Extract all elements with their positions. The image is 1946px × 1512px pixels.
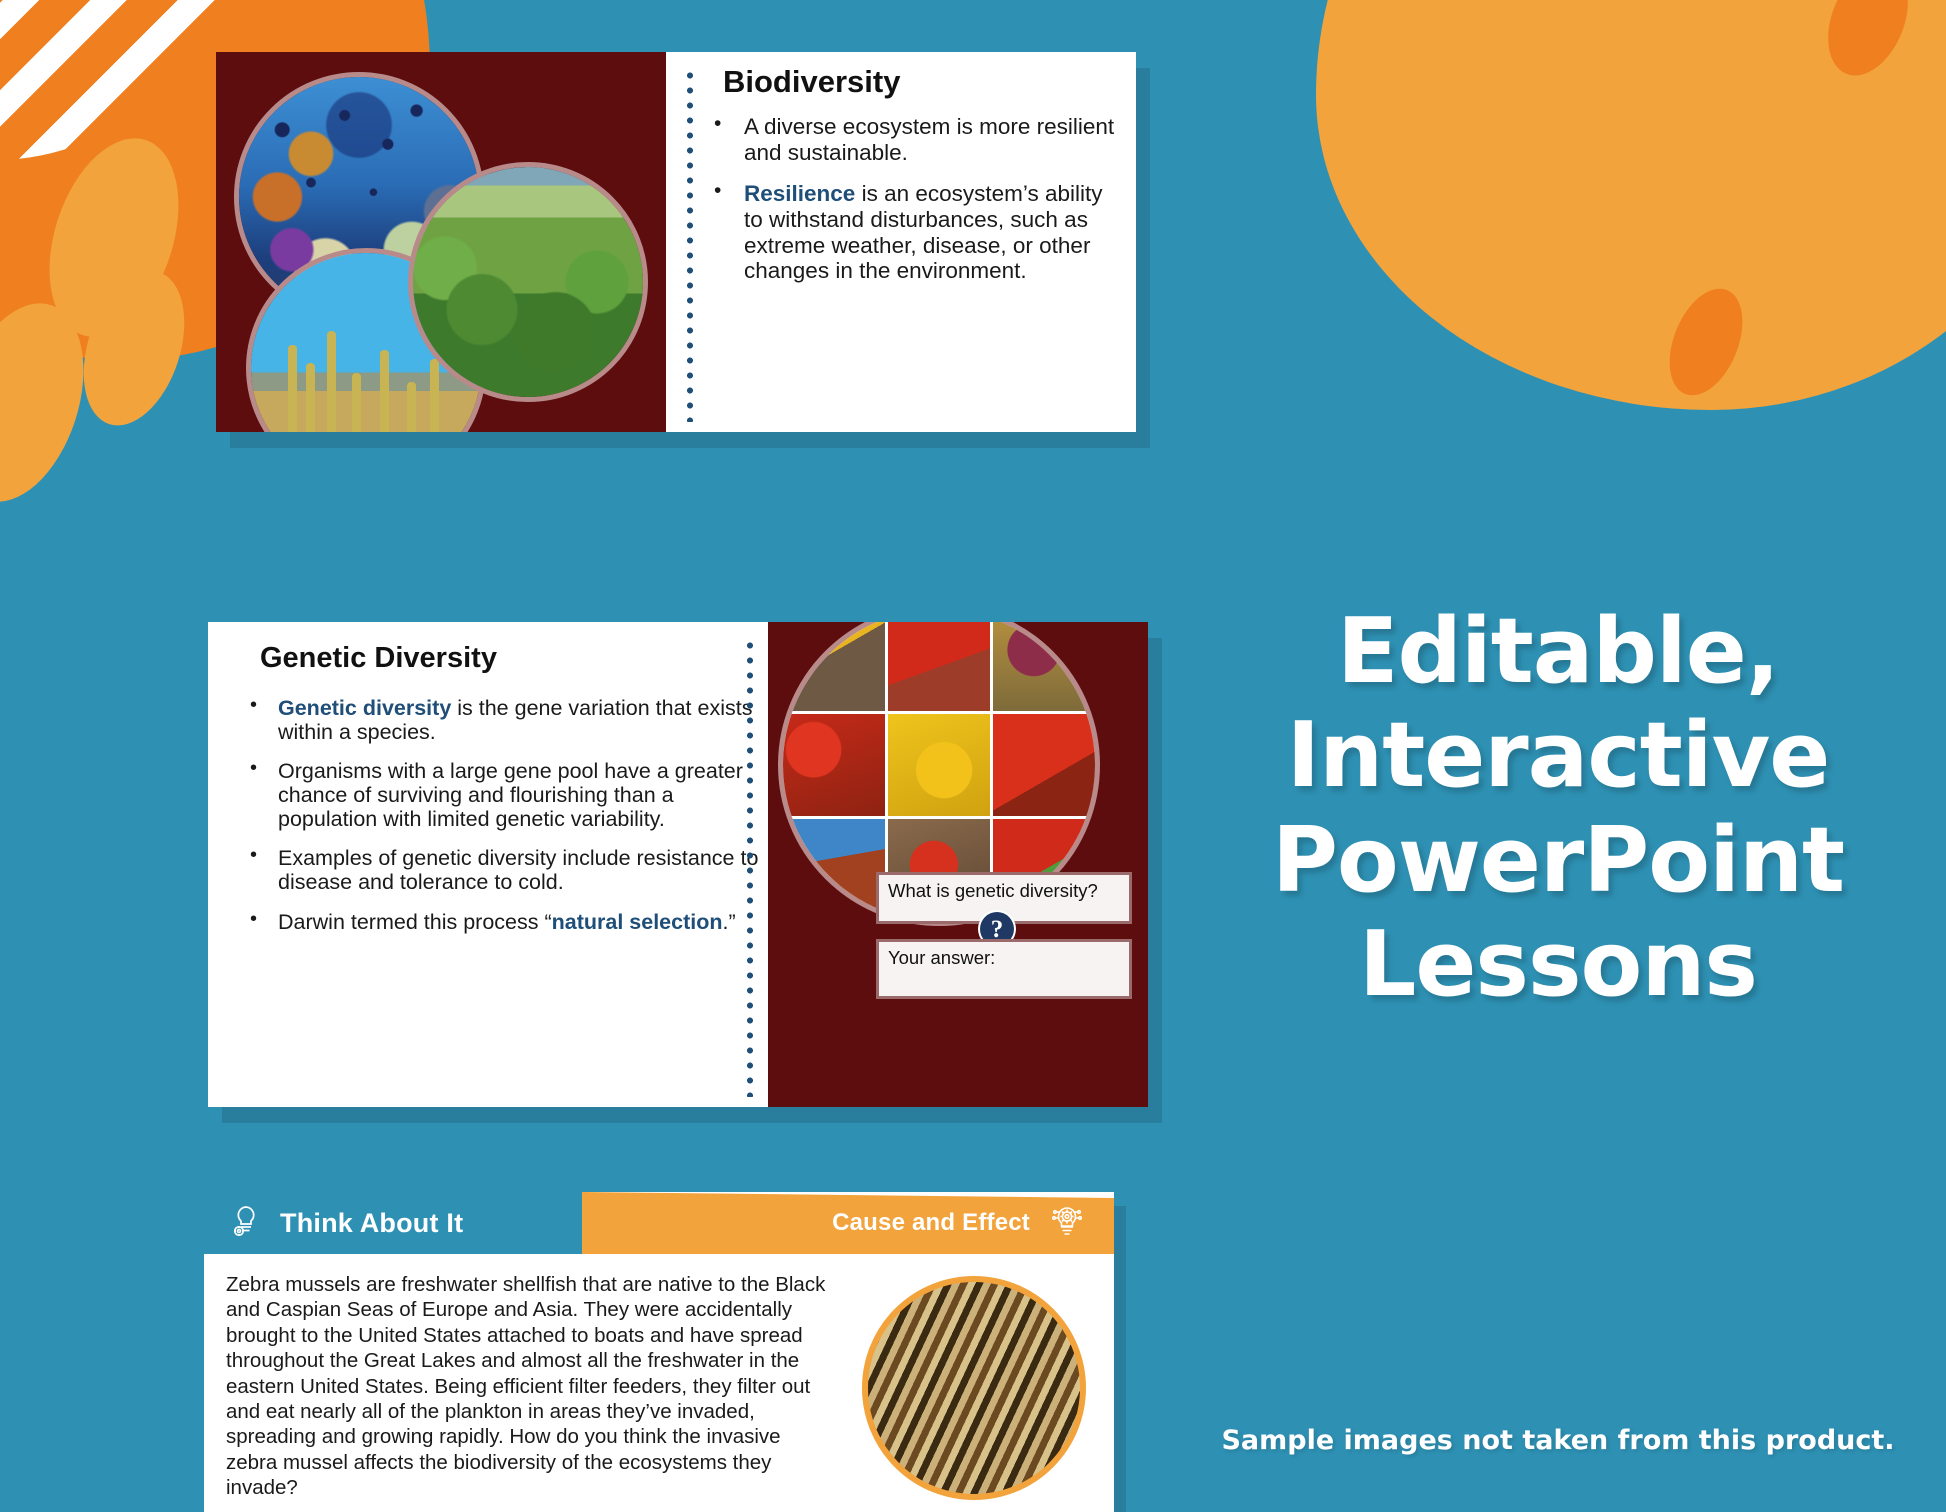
bullet-item: Examples of genetic diversity include re…: [242, 846, 760, 894]
cause-and-effect-label: Cause and Effect: [832, 1209, 1030, 1237]
slide1-text-panel: Biodiversity A diverse ecosystem is more…: [666, 52, 1136, 432]
slide2-bullet-list: Genetic diversity is the gene variation …: [242, 696, 760, 949]
zebra-mussels-photo: [862, 1276, 1086, 1500]
lightbulb-gear-icon: [1046, 1200, 1088, 1247]
headline-line-1: Editable,: [1170, 600, 1946, 704]
slide2-text-panel: Genetic Diversity Genetic diversity is t…: [208, 622, 768, 1107]
lightbulb-gear-icon: [226, 1201, 266, 1246]
keyword-genetic-diversity: Genetic diversity: [278, 696, 451, 720]
slide2-title: Genetic Diversity: [260, 642, 497, 675]
slide-preview-genetic-diversity[interactable]: Genetic Diversity Genetic diversity is t…: [208, 622, 1148, 1107]
keyword-natural-selection: natural selection: [552, 910, 723, 934]
slide1-title: Biodiversity: [723, 64, 900, 100]
slide-preview-think-about-it[interactable]: Think About It Cause and Effect: [204, 1192, 1114, 1512]
orange-blob-top-right: [1316, 0, 1946, 410]
zebra-mussel-paragraph: Zebra mussels are freshwater shellfish t…: [226, 1272, 826, 1501]
slide1-photo-panel: [216, 52, 666, 432]
question-text: What is genetic diversity?: [879, 875, 1129, 908]
slide1-bullet-list: A diverse ecosystem is more resilient an…: [706, 114, 1118, 300]
forest-photo: [408, 162, 648, 402]
slide2-photo-panel: What is genetic diversity? ? Your answer…: [768, 622, 1148, 1107]
bullet-text: Examples of genetic diversity include re…: [278, 846, 758, 894]
cause-and-effect-banner: Cause and Effect: [582, 1192, 1114, 1254]
bullet-text: A diverse ecosystem is more resilient an…: [744, 114, 1114, 165]
keyword-resilience: Resilience: [744, 181, 855, 206]
headline-line-4: Lessons: [1170, 913, 1946, 1017]
slide3-header: Think About It Cause and Effect: [204, 1192, 1114, 1254]
dark-orange-ellipse-decor: [1813, 0, 1923, 87]
bullet-item: A diverse ecosystem is more resilient an…: [706, 114, 1118, 165]
think-about-it-label: Think About It: [280, 1208, 463, 1239]
dotted-divider: [686, 68, 694, 422]
think-about-it-banner: Think About It: [204, 1192, 582, 1254]
answer-label: Your answer:: [879, 942, 1129, 975]
bullet-item: Darwin termed this process “natural sele…: [242, 910, 760, 934]
promo-headline: Editable, Interactive PowerPoint Lessons: [1170, 600, 1946, 1018]
bullet-item: Organisms with a large gene pool have a …: [242, 759, 760, 831]
slide-preview-biodiversity[interactable]: Biodiversity A diverse ecosystem is more…: [216, 52, 1136, 432]
headline-line-2: Interactive: [1170, 704, 1946, 808]
answer-box[interactable]: Your answer:: [876, 939, 1132, 999]
slide3-content: Zebra mussels are freshwater shellfish t…: [204, 1254, 1114, 1512]
sample-images-disclaimer: Sample images not taken from this produc…: [1170, 1425, 1946, 1456]
bullet-item: Genetic diversity is the gene variation …: [242, 696, 760, 744]
dotted-divider: [746, 638, 754, 1097]
bullet-item: Resilience is an ecosystem’s ability to …: [706, 181, 1118, 284]
bullet-text: Organisms with a large gene pool have a …: [278, 759, 743, 831]
headline-line-3: PowerPoint: [1170, 809, 1946, 913]
